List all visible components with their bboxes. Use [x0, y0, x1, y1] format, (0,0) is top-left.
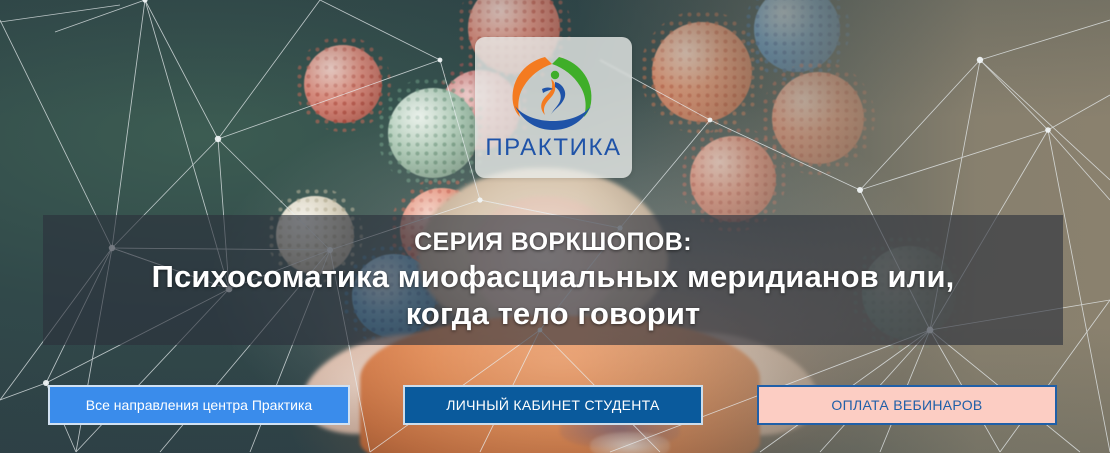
all-directions-button[interactable]: Все направления центра Практика: [48, 385, 350, 425]
hero-title: СЕРИЯ ВОРКШОПОВ: Психосоматика миофасциа…: [43, 219, 1063, 341]
hero-title-line-3: когда тело говорит: [406, 297, 701, 332]
hero-title-line-1: СЕРИЯ ВОРКШОПОВ:: [414, 228, 692, 256]
hero-banner: ПРАКТИКА СЕРИЯ ВОРКШОПОВ: Психосоматика …: [0, 0, 1110, 453]
praktika-wordmark: ПРАКТИКА: [485, 136, 621, 160]
student-account-button[interactable]: ЛИЧНЫЙ КАБИНЕТ СТУДЕНТА: [403, 385, 703, 425]
praktika-logo-card[interactable]: ПРАКТИКА: [475, 37, 632, 178]
hero-title-line-2: Психосоматика миофасциальных меридианов …: [152, 260, 955, 295]
praktika-running-figure-logo-icon: [498, 49, 610, 135]
webinar-payment-button[interactable]: ОПЛАТА ВЕБИНАРОВ: [757, 385, 1057, 425]
